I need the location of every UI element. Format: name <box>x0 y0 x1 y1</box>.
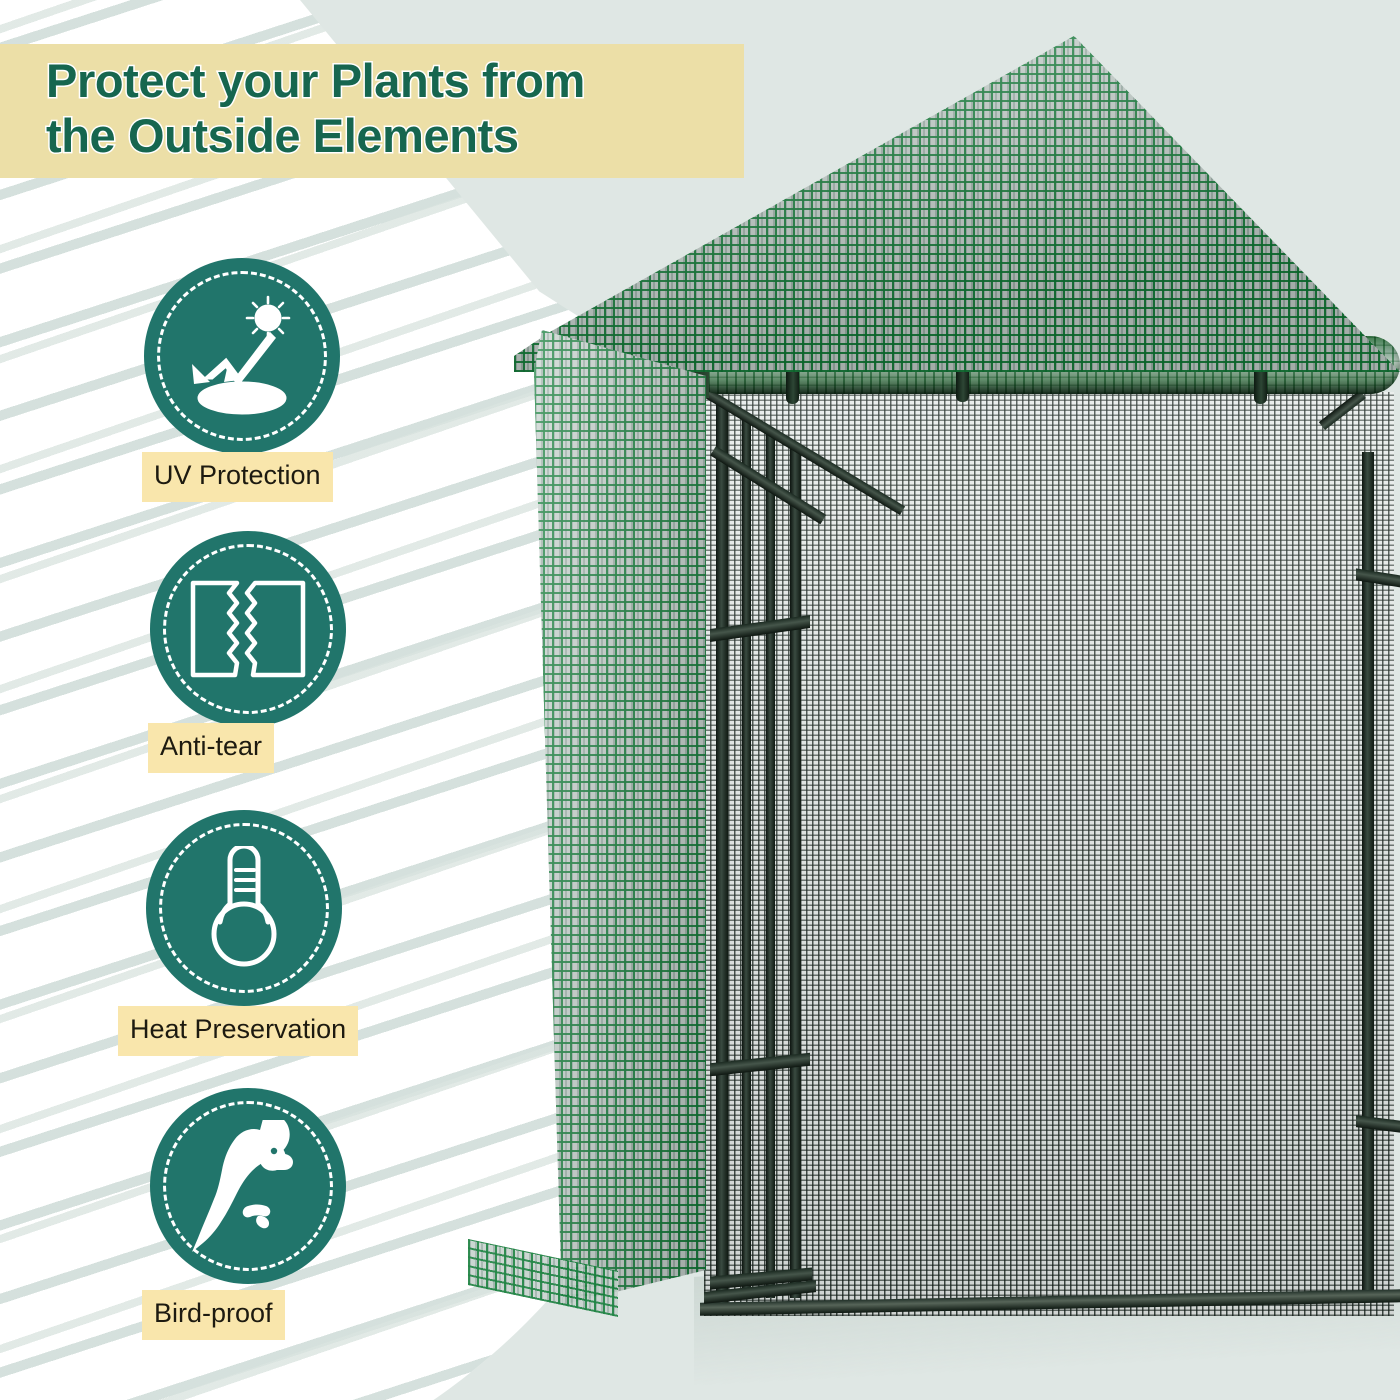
frame-post-mid-left <box>790 448 801 1298</box>
feature-list: UV Protection Anti-tear <box>0 0 430 1400</box>
promo-graphic: Protect your Plants from the Outside Ele… <box>0 0 1400 1400</box>
headline-line-1: Protect your Plants from <box>46 54 744 109</box>
frame-post-inner-left-3 <box>766 430 775 1298</box>
parrot-bird-icon <box>150 1088 346 1284</box>
feature-item-bird-proof: Bird-proof <box>0 0 430 1400</box>
greenhouse-product-image <box>494 0 1400 1400</box>
side-wall-shading <box>534 330 706 1305</box>
back-mesh-panel <box>704 392 1394 1316</box>
headline-line-2: the Outside Elements <box>46 109 744 164</box>
greenhouse-side-wall <box>534 330 706 1305</box>
bird-proof-label: Bird-proof <box>142 1290 285 1340</box>
bird-proof-badge <box>150 1088 346 1284</box>
mesh-shading <box>704 392 1394 1316</box>
frame-post-inner-left <box>716 400 728 1306</box>
frame-post-inner-left-2 <box>742 418 751 1298</box>
headline-banner: Protect your Plants from the Outside Ele… <box>0 44 744 178</box>
